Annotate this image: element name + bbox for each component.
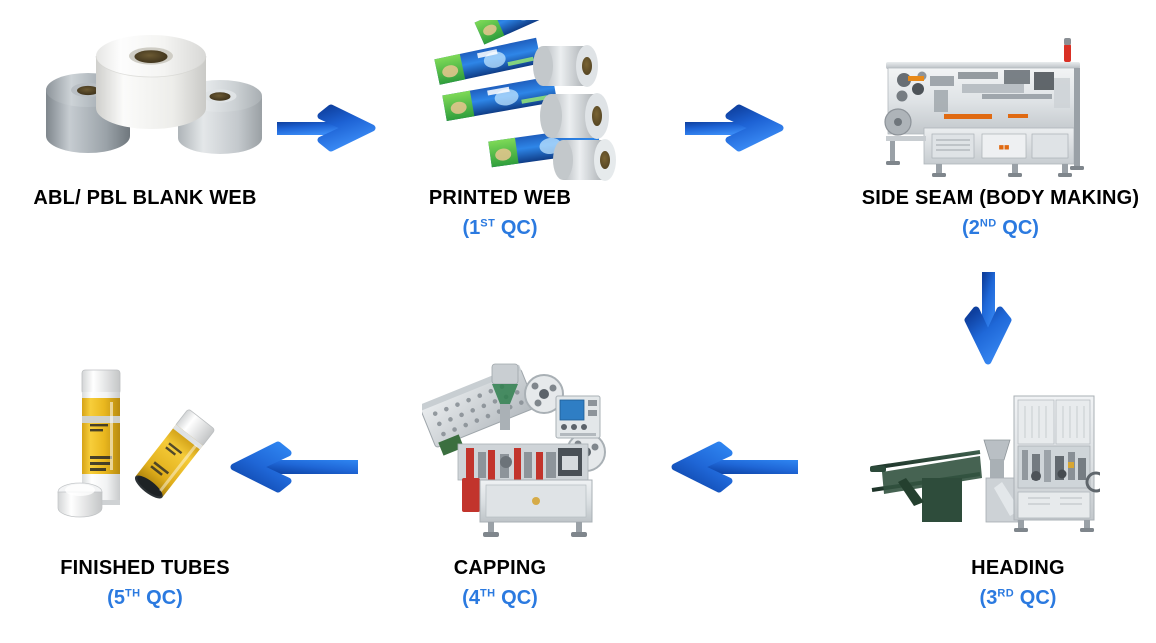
qc-ordinal-suffix: ND [980,217,997,229]
qc-suffix: QC) [141,587,183,609]
stage-title: CAPPING [355,556,645,582]
qc-suffix: QC) [997,217,1039,239]
stage-label-capping: CAPPING (4TH QC) [355,556,645,611]
arrow-down-1 [950,272,1040,368]
stage-label-abl-pbl-blank-web: ABL/ PBL BLANK WEB [0,186,290,212]
qc-ordinal-suffix: ST [480,217,495,229]
stage-title: FINISHED TUBES [0,556,290,582]
qc-suffix: QC) [496,587,538,609]
svg-text:■■: ■■ [999,142,1010,152]
stage-qc-label: (2ND QC) [845,216,1156,242]
heading-machine-photo [862,382,1100,550]
stage-title: PRINTED WEB [355,186,645,212]
stage-qc-label: (5TH QC) [0,586,290,612]
stage-label-printed-web: PRINTED WEB (1ST QC) [355,186,645,241]
arrow-left-2 [218,437,358,497]
qc-suffix: QC) [1014,587,1056,609]
arrow-left-1 [663,437,798,497]
stage-label-heading: HEADING (3RD QC) [880,556,1156,611]
stage-title: ABL/ PBL BLANK WEB [0,186,290,212]
qc-prefix: (4 [462,587,480,609]
qc-ordinal-suffix: TH [480,587,496,599]
qc-ordinal-suffix: RD [997,587,1014,599]
qc-ordinal-suffix: TH [125,587,141,599]
stage-title: SIDE SEAM (BODY MAKING) [845,186,1156,212]
stage-qc-label: (1ST QC) [355,216,645,242]
laminate-rolls-photo [38,22,270,182]
qc-prefix: (5 [107,587,125,609]
stage-label-side-seam-body-making: SIDE SEAM (BODY MAKING) (2ND QC) [845,186,1156,241]
stage-title: HEADING [880,556,1156,582]
capping-machine-photo [422,352,622,542]
qc-prefix: (2 [962,217,980,239]
printed-web-rolls-photo [425,20,640,185]
stage-qc-label: (4TH QC) [355,586,645,612]
finished-tubes-photo [44,356,224,542]
qc-prefix: (1 [462,217,480,239]
stage-qc-label: (3RD QC) [880,586,1156,612]
qc-prefix: (3 [980,587,998,609]
arrow-right-2 [685,100,785,156]
arrow-right-1 [277,100,377,156]
qc-suffix: QC) [495,217,537,239]
side-seam-machine-photo: ■■ [862,32,1100,182]
process-flow-diagram: ABL/ PBL BLANK WEB [0,0,1156,643]
stage-label-finished-tubes: FINISHED TUBES (5TH QC) [0,556,290,611]
